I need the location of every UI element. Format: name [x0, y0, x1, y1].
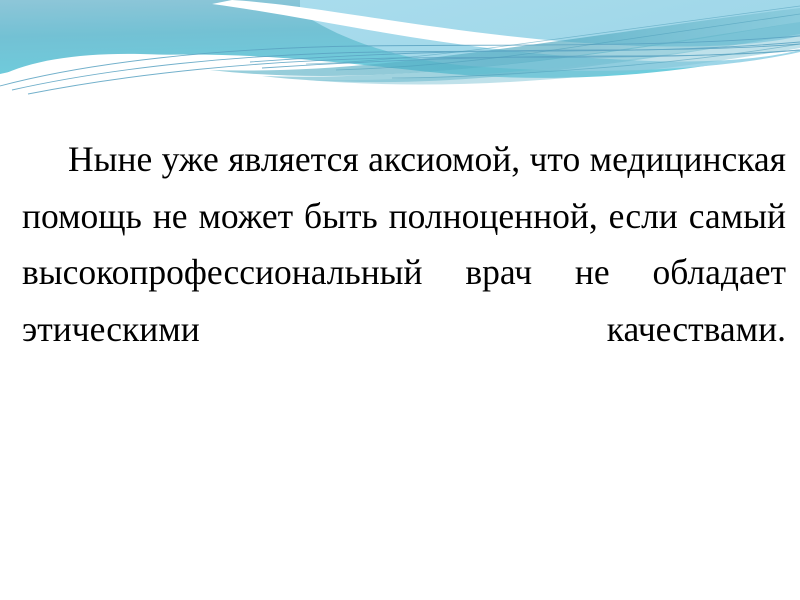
teal-band-1 — [210, 8, 800, 76]
hairlines-teal — [306, 6, 800, 78]
wave-graphic — [0, 0, 800, 96]
header-wave-decoration — [0, 0, 800, 96]
teal-band-3 — [306, 34, 800, 85]
hairlines — [0, 36, 800, 94]
teal-field-right — [300, 0, 800, 71]
teal-band-2 — [262, 22, 800, 82]
teal-field-left — [0, 0, 800, 78]
white-swoosh-upper — [212, 0, 800, 62]
slide-canvas: Ныне уже является аксиомой, что медицинс… — [0, 0, 800, 600]
white-wave-main — [0, 54, 800, 96]
slide-body-text: Ныне уже является аксиомой, что медицинс… — [22, 131, 786, 414]
wave-layers — [0, 0, 800, 96]
